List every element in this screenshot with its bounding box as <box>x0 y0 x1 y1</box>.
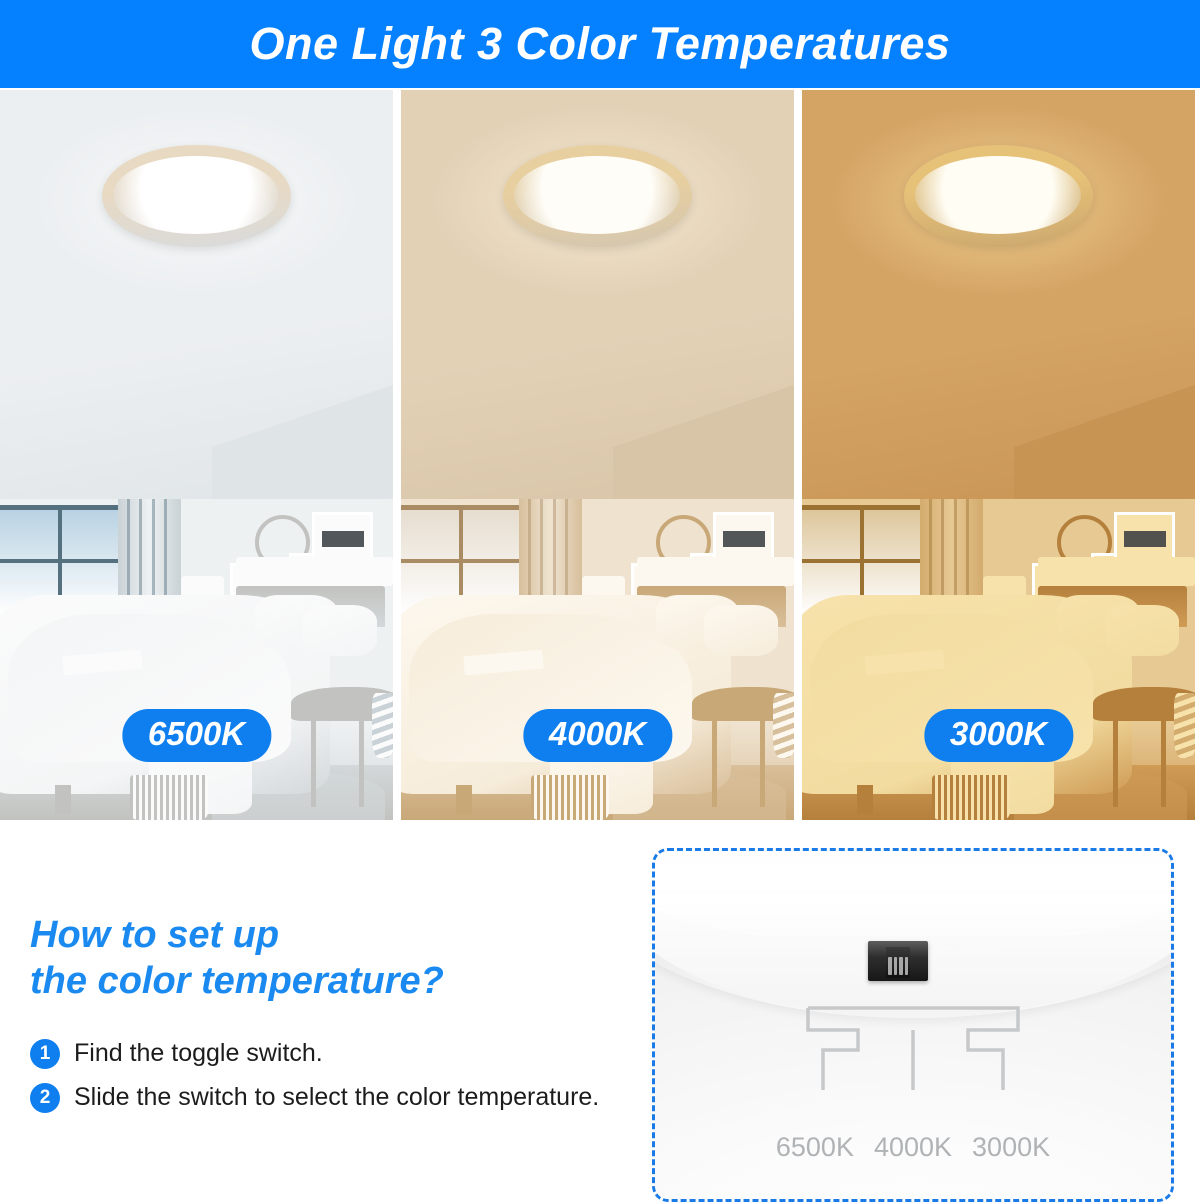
fixture-closeup-photo: 6500K 4000K 3000K <box>655 851 1171 1199</box>
room-photo-4000k: 4000K <box>401 90 794 820</box>
fixture-lens <box>514 156 680 234</box>
bedroom-scene-4000k <box>401 499 794 820</box>
banner-title: One Light 3 Color Temperatures <box>250 18 951 70</box>
magazine-basket <box>130 775 209 820</box>
setup-step-2: 2 Slide the switch to select the color t… <box>30 1083 630 1113</box>
ceiling-light-fixture <box>503 145 692 247</box>
ceiling-6500k <box>0 90 393 513</box>
fixture-lens <box>113 156 279 234</box>
color-temperature-comparison-row: 6500K <box>0 90 1200 820</box>
panel-divider <box>794 90 802 820</box>
bed-leg <box>55 785 71 814</box>
ceiling-4000k <box>401 90 794 513</box>
printed-label-3000k: 3000K <box>972 1132 1050 1163</box>
step-text: Find the toggle switch. <box>74 1039 323 1068</box>
chair <box>692 653 794 807</box>
shelf <box>637 557 794 586</box>
ceiling-light-fixture <box>904 145 1093 247</box>
shelf <box>1038 557 1195 586</box>
room-photo-6500k: 6500K <box>0 90 393 820</box>
room-photo-3000k: 3000K <box>802 90 1195 820</box>
bedroom-scene-3000k <box>802 499 1195 820</box>
pillow <box>704 605 779 656</box>
kelvin-badge-4000k: 4000K <box>523 709 672 762</box>
printed-label-6500k: 6500K <box>776 1132 854 1163</box>
step-text: Slide the switch to select the color tem… <box>74 1083 599 1112</box>
window-mullion-horizontal <box>401 559 524 563</box>
ceiling-light-fixture <box>102 145 291 247</box>
step-number-badge: 2 <box>30 1083 60 1113</box>
setup-step-1: 1 Find the toggle switch. <box>30 1039 630 1069</box>
howto-heading: How to set up the color temperature? <box>30 912 630 1005</box>
window-mullion-horizontal <box>0 559 123 563</box>
chair <box>1093 653 1195 807</box>
throw-blanket <box>773 693 794 758</box>
panel-divider <box>393 90 401 820</box>
kelvin-badge-3000k: 3000K <box>924 709 1073 762</box>
magazine-basket <box>531 775 610 820</box>
switch-position-diagram <box>753 1004 1073 1094</box>
bedroom-scene-6500k <box>0 499 393 820</box>
toggle-switch[interactable] <box>868 941 928 981</box>
throw-blanket <box>1174 693 1195 758</box>
setup-instructions-section: How to set up the color temperature? 1 F… <box>0 820 1200 1200</box>
printed-kelvin-labels: 6500K 4000K 3000K <box>776 1132 1050 1163</box>
magazine-basket <box>932 775 1011 820</box>
bed-leg <box>857 785 873 814</box>
printed-label-4000k: 4000K <box>874 1132 952 1163</box>
kelvin-badge-6500k: 6500K <box>122 709 271 762</box>
throw-blanket <box>372 693 393 758</box>
toggle-switch-ridges <box>888 957 908 975</box>
shelf <box>236 557 393 586</box>
chair <box>291 653 393 807</box>
pillow <box>303 605 378 656</box>
bed-leg <box>456 785 472 814</box>
ceiling-3000k <box>802 90 1195 513</box>
toggle-switch-closeup: 6500K 4000K 3000K <box>652 848 1174 1202</box>
window-mullion-horizontal <box>802 559 925 563</box>
fixture-lens <box>915 156 1081 234</box>
pillow <box>1105 605 1180 656</box>
step-number-badge: 1 <box>30 1039 60 1069</box>
header-banner: One Light 3 Color Temperatures <box>0 0 1200 88</box>
howto-column: How to set up the color temperature? 1 F… <box>30 912 630 1127</box>
